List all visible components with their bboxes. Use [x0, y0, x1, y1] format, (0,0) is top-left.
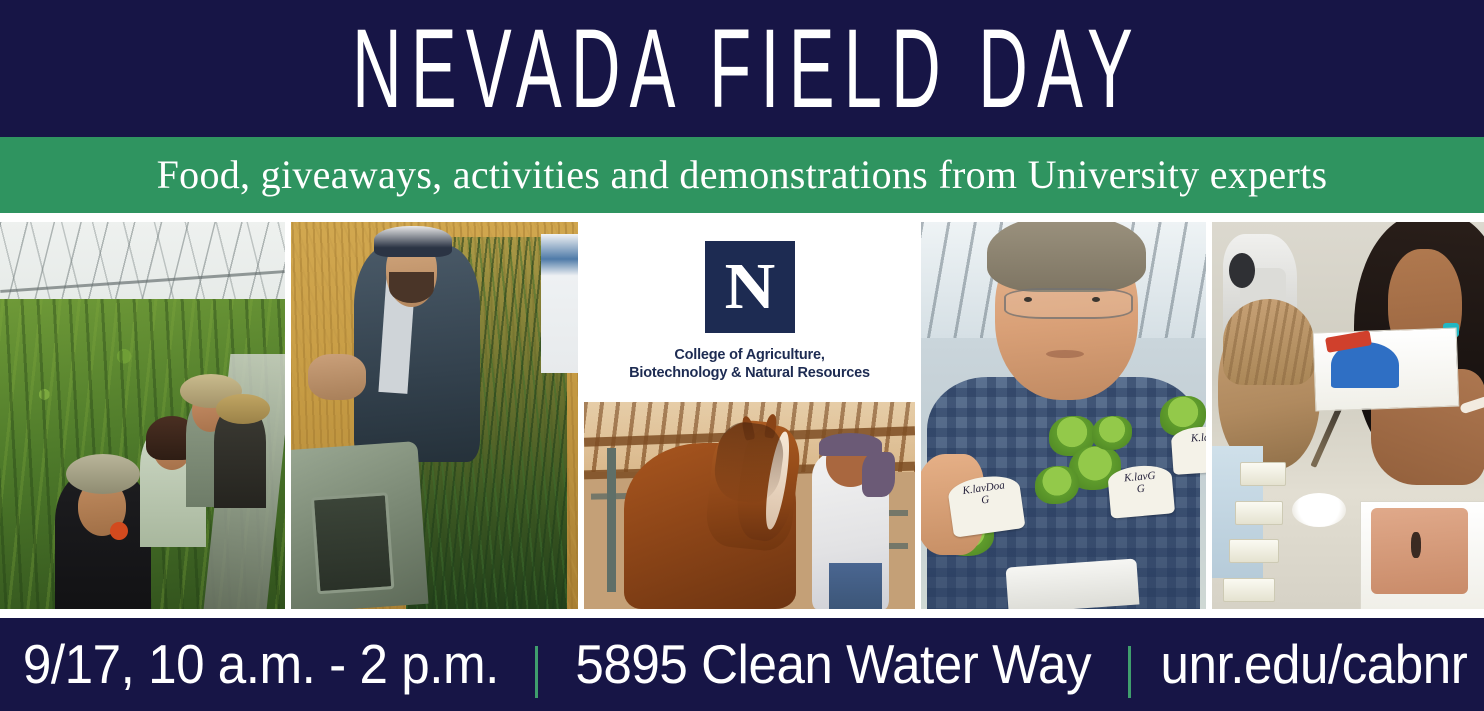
logo-wordmark: College of Agriculture, Biotechnology & … [629, 347, 870, 382]
handler-hair [862, 452, 895, 498]
crate-window [310, 492, 394, 594]
pipe-post [607, 448, 616, 593]
specimen-box [1223, 578, 1275, 602]
plant-tag-line-2: G [980, 494, 990, 507]
man-hand [308, 354, 365, 400]
tomato [110, 522, 128, 540]
greenhouse-lab-scene: K.lavDoa G K.lavG G K.la [921, 222, 1206, 609]
microscope-child-photo [1212, 222, 1484, 609]
specimen-box [1235, 501, 1283, 525]
plant-tray [1005, 558, 1139, 609]
plant-tag: K.lavG G [1107, 463, 1175, 518]
background-sign [541, 234, 578, 373]
photo-strip: N College of Agriculture, Biotechnology … [0, 222, 1484, 609]
logo-line-2: Biotechnology & Natural Resources [629, 365, 870, 383]
sun-hat [66, 454, 140, 494]
child-braided-hair [1223, 299, 1314, 384]
logo-line-1: College of Agriculture, [629, 347, 870, 365]
seedling [1035, 466, 1079, 504]
mouth [1046, 350, 1084, 358]
event-date-time: 9/17, 10 a.m. - 2 p.m. [23, 637, 499, 692]
horse-handler-photo [584, 402, 915, 609]
subtitle-text: Food, giveaways, activities and demonstr… [157, 155, 1328, 195]
page-title: NEVADA FIELD DAY [342, 12, 1141, 124]
eyeglasses-icon [1004, 288, 1133, 319]
footer-info-row: 9/17, 10 a.m. - 2 p.m. 5895 Clean Water … [5, 637, 1479, 692]
logo-and-horse-column: N College of Agriculture, Biotechnology … [584, 222, 915, 609]
block-n-letter: N [724, 254, 775, 320]
equipment-crate [291, 441, 429, 609]
baseball-cap [374, 226, 451, 257]
barn-scene [584, 402, 915, 609]
subtitle-band: Food, giveaways, activities and demonstr… [0, 137, 1484, 213]
specimen-box [1240, 462, 1286, 486]
nevada-block-n-icon: N [705, 241, 795, 333]
researcher-hair [987, 222, 1147, 292]
insect-body [1411, 532, 1421, 558]
researcher-seedlings-photo: K.lavDoa G K.lavG G K.la [921, 222, 1206, 609]
unr-cabnr-logo: N College of Agriculture, Biotechnology … [584, 222, 915, 402]
straw-bale-wall [291, 222, 578, 609]
event-website[interactable]: unr.edu/cabnr [1161, 637, 1468, 692]
footer-separator [1128, 646, 1131, 698]
footer-info-band: 9/17, 10 a.m. - 2 p.m. 5895 Clean Water … [0, 618, 1484, 711]
seedling [1092, 416, 1132, 450]
greenhouse-students-photo [0, 222, 285, 609]
title-band: NEVADA FIELD DAY [0, 0, 1484, 137]
footer-separator [535, 646, 538, 698]
sun-hat [216, 394, 270, 424]
handler-jeans [829, 563, 882, 609]
petri-dish [1292, 493, 1346, 527]
greenhouse-scene [0, 222, 285, 609]
event-address: 5895 Clean Water Way [575, 637, 1091, 692]
activity-table-scene [1212, 222, 1484, 609]
plant-tag-line-2: G [1136, 482, 1145, 495]
microscope-knob [1229, 253, 1255, 288]
specimen-box [1229, 539, 1279, 563]
straw-bale-grass-photo [291, 222, 578, 609]
nevada-field-day-poster: NEVADA FIELD DAY Food, giveaways, activi… [0, 0, 1484, 711]
plant-tag-line-1: K.la [1190, 432, 1206, 445]
